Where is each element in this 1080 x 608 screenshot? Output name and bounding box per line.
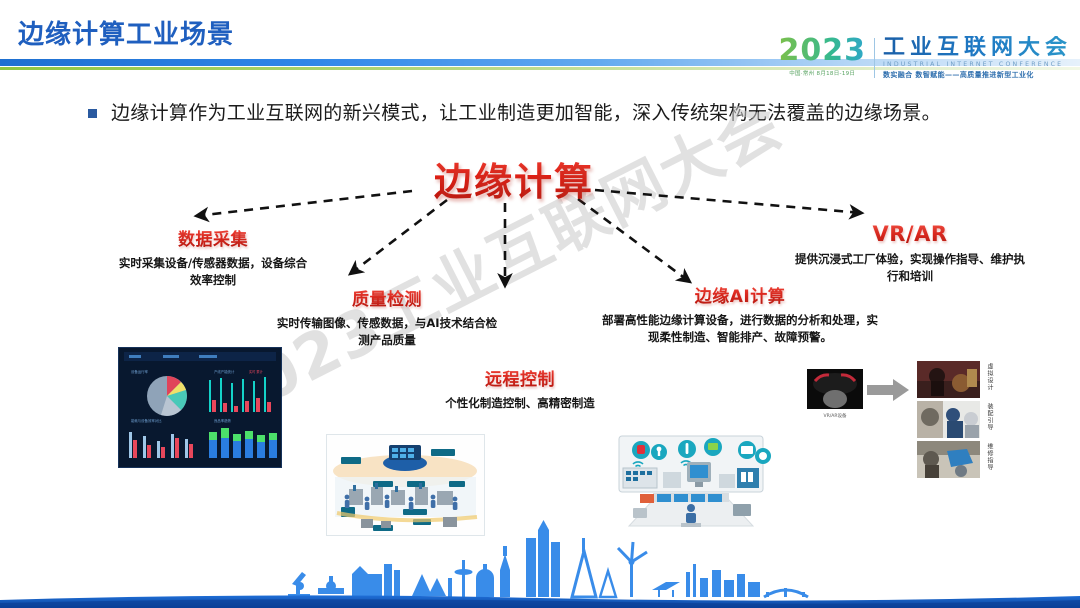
node-description: 部署高性能边缘计算设备，进行数据的分析和处理，实现柔性制造、智能排产、故障预警。 — [600, 312, 880, 345]
node-heading: VR/AR — [795, 222, 1025, 246]
svg-text:产线产能统计: 产线产能统计 — [214, 369, 235, 374]
logo-date: 中国·常州 8月18日-19日 — [789, 69, 855, 77]
bullet-square-icon — [88, 109, 97, 118]
slide: 边缘计算工业场景 2023 中国·常州 8月18日-19日 工业互联网大会 IN… — [0, 0, 1080, 608]
conference-logo: 2023 中国·常州 8月18日-19日 工业互联网大会 INDUSTRIAL … — [778, 36, 1072, 80]
diagram-node-remote-control: 远程控制 个性化制造控制、高精密制造 — [400, 365, 640, 412]
skyline-decoration — [0, 508, 1080, 608]
svg-text:设备运行率: 设备运行率 — [131, 369, 149, 374]
svg-text:实时 累计: 实时 累计 — [249, 369, 264, 374]
vr-headset-photo — [807, 369, 863, 409]
node-heading: 远程控制 — [400, 365, 640, 390]
bullet-text: 边缘计算作为工业互联网的新兴模式，让工业制造更加智能，深入传统架构无法覆盖的边缘… — [111, 100, 941, 127]
diagram-node-data-collection: 数据采集 实时采集设备/传感器数据，设备综合效率控制 — [118, 225, 308, 288]
svg-text:良品率趋势: 良品率趋势 — [214, 418, 232, 423]
vr-thumb-3 — [917, 441, 980, 478]
vr-arrow-icon — [867, 379, 909, 401]
logo-english-name: INDUSTRIAL INTERNET CONFERENCE — [883, 61, 1072, 68]
diagram-node-vr-ar: VR/AR 提供沉浸式工厂体验，实现操作指导、维护执行和培训 — [795, 222, 1025, 284]
vr-thumb-label-1: 虚拟设计 — [985, 363, 994, 391]
vr-ar-image-group: VR/AR设备 虚拟设计 — [805, 355, 1020, 480]
logo-left-block: 2023 中国·常州 8月18日-19日 — [778, 36, 874, 77]
node-heading: 数据采集 — [118, 225, 308, 250]
logo-year: 2023 — [778, 36, 866, 66]
vr-thumb-2 — [917, 401, 980, 438]
node-description: 提供沉浸式工厂体验，实现操作指导、维护执行和培训 — [795, 251, 1025, 284]
vr-thumb-1 — [917, 361, 980, 398]
bullet-item: 边缘计算作为工业互联网的新兴模式，让工业制造更加智能，深入传统架构无法覆盖的边缘… — [88, 100, 941, 127]
vr-thumb-label-3: 维修指导 — [985, 443, 994, 471]
dashboard-image: 设备运行率 产线产能统计 实时 累计 能耗与设备效率对比 良品率趋势 — [118, 347, 282, 468]
node-description: 实时采集设备/传感器数据，设备综合效率控制 — [118, 255, 308, 288]
vr-headset-caption: VR/AR设备 — [807, 413, 863, 419]
diagram-center-title: 边缘计算 — [434, 151, 594, 206]
diagram-node-quality-inspection: 质量检测 实时传输图像、传感数据，与AI技术结合检测产品质量 — [272, 285, 502, 348]
node-description: 实时传输图像、传感数据，与AI技术结合检测产品质量 — [272, 315, 502, 348]
node-heading: 边缘AI计算 — [600, 282, 880, 307]
logo-tagline: 数实融合 数智赋能——高质量推进新型工业化 — [883, 70, 1072, 80]
diagram-node-edge-ai: 边缘AI计算 部署高性能边缘计算设备，进行数据的分析和处理，实现柔性制造、智能排… — [600, 282, 880, 345]
logo-chinese-name: 工业互联网大会 — [883, 36, 1072, 59]
node-description: 个性化制造控制、高精密制造 — [400, 395, 640, 412]
vr-thumb-label-2: 装配引导 — [985, 403, 994, 431]
node-heading: 质量检测 — [272, 285, 502, 310]
page-title: 边缘计算工业场景 — [18, 14, 234, 51]
logo-right-block: 工业互联网大会 INDUSTRIAL INTERNET CONFERENCE 数… — [875, 36, 1072, 80]
svg-text:能耗与设备效率对比: 能耗与设备效率对比 — [131, 418, 162, 423]
